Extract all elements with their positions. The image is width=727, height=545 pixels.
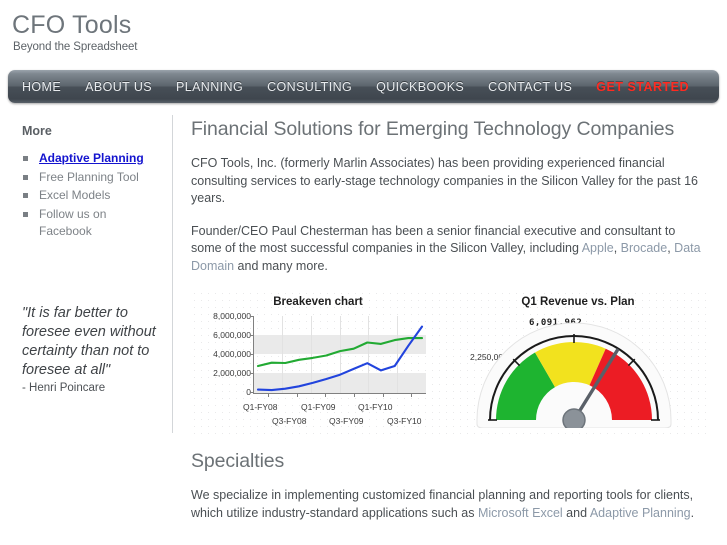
x-tick-label: Q1-FY09 [301,402,336,412]
x-tick-label: Q3-FY08 [272,416,307,426]
x-tick-label: Q1-FY10 [358,402,393,412]
specialties-paragraph: We specialize in implementing customized… [191,487,706,522]
x-tick [297,393,298,397]
intro-paragraph: CFO Tools, Inc. (formerly Marlin Associa… [191,155,706,208]
nav-item-home[interactable]: HOME [22,80,61,94]
specialties-section: Specialties We specialize in implementin… [191,450,706,537]
series-revenue-line [258,327,422,391]
nav-item-quickbooks[interactable]: QUICKBOOKS [376,80,464,94]
breakeven-chart-title: Breakeven chart [193,296,443,308]
nav-item-get-started[interactable]: GET STARTED [596,80,689,94]
page-title: Financial Solutions for Emerging Technol… [191,118,706,141]
y-tick-label: 6,000,000 [213,330,251,340]
main-navigation: HOME ABOUT US PLANNING CONSULTING QUICKB… [8,70,719,103]
x-tick-label: Q3-FY10 [387,416,422,426]
y-tick-label: 8,000,000 [213,311,251,321]
specialties-text-part2: . [691,506,694,520]
sidebar-list: Adaptive Planning Free Planning Tool Exc… [22,150,162,241]
breakeven-y-axis-labels: 8,000,000 6,000,000 4,000,000 2,000,000 … [193,311,251,393]
quote-author: - Henri Poincare [22,382,164,394]
founder-text-part2: and many more. [234,259,328,273]
breakeven-plot-area [253,316,426,394]
bullet-icon [23,212,28,217]
sidebar-item-label[interactable]: Excel Models [39,188,110,202]
breakeven-x-axis-labels-row2: Q3-FY08 Q3-FY09 Q3-FY10 [233,416,443,429]
link-microsoft-excel[interactable]: Microsoft Excel [478,506,563,520]
sidebar-item-follow-us-on-facebook[interactable]: Follow us on Facebook [22,206,162,241]
gauge-hub [563,409,585,428]
y-tick-label: 2,000,000 [213,368,251,378]
sidebar-item-label[interactable]: Adaptive Planning [39,151,144,165]
sidebar-quote: "It is far better to foresee even withou… [22,304,164,394]
bullet-icon [23,175,28,180]
x-tick [383,393,384,397]
x-tick-label: Q1-FY08 [243,402,278,412]
y-tick-label: 4,000,000 [213,349,251,359]
site-header: CFO Tools Beyond the Spreadsheet [0,0,727,56]
sidebar-divider [172,115,173,433]
main-column: Financial Solutions for Emerging Technol… [191,118,706,438]
link-brocade[interactable]: Brocade [621,241,668,255]
breakeven-x-axis-labels-row1: Q1-FY08 Q1-FY09 Q1-FY10 [233,402,443,415]
sidebar-item-adaptive-planning[interactable]: Adaptive Planning [22,150,162,168]
site-logo-tagline: Beyond the Spreadsheet [13,40,727,54]
sidebar-heading: More [22,124,162,138]
x-tick [354,393,355,397]
x-tick-label: Q3-FY09 [329,416,364,426]
bullet-icon [23,193,28,198]
sidebar-item-label[interactable]: Follow us on Facebook [39,207,106,239]
sidebar-item-free-planning-tool[interactable]: Free Planning Tool [22,169,162,187]
gauge-chart: Q1 Revenue vs. Plan 6,091,962 4,500,000 … [453,290,703,438]
nav-item-contact-us[interactable]: CONTACT US [488,80,572,94]
gauge-graphic [459,308,689,428]
quote-text: "It is far better to foresee even withou… [22,304,164,380]
gauge-chart-title: Q1 Revenue vs. Plan [453,296,703,308]
sidebar-item-label[interactable]: Free Planning Tool [39,170,139,184]
breakeven-plot-wrap: 8,000,000 6,000,000 4,000,000 2,000,000 … [193,316,443,398]
breakeven-chart: Breakeven chart 8,000,000 6,000,000 4,00… [193,290,443,438]
sidebar-item-excel-models[interactable]: Excel Models [22,187,162,205]
charts-image: Breakeven chart 8,000,000 6,000,000 4,00… [191,290,706,438]
separator-and: and [563,506,590,520]
link-adaptive-planning[interactable]: Adaptive Planning [590,506,691,520]
separator-1: , [614,241,621,255]
x-tick [411,393,412,397]
founder-paragraph: Founder/CEO Paul Chesterman has been a s… [191,223,706,276]
nav-item-planning[interactable]: PLANNING [176,80,243,94]
sidebar: More Adaptive Planning Free Planning Too… [22,124,162,242]
nav-item-about-us[interactable]: ABOUT US [85,80,152,94]
x-tick [268,393,269,397]
bullet-icon [23,156,28,161]
site-logo-title: CFO Tools [12,12,727,39]
breakeven-series-lines [254,316,426,393]
link-apple[interactable]: Apple [582,241,614,255]
nav-item-consulting[interactable]: CONSULTING [267,80,352,94]
specialties-title: Specialties [191,450,706,473]
x-tick [325,393,326,397]
